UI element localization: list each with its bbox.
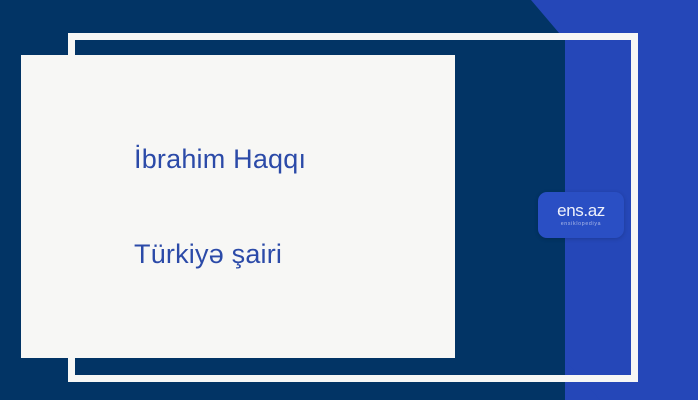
content-card-body: İbrahim Haqqı Türkiyə şairi: [21, 55, 455, 358]
slide-canvas: İbrahim Haqqı Türkiyə şairi ens.az ensik…: [0, 0, 698, 400]
logo-tagline: ensiklopediya: [561, 222, 602, 227]
content-card: İbrahim Haqqı Türkiyə şairi: [21, 55, 455, 358]
accent-diagonal-top-right: [500, 0, 590, 40]
page-title: İbrahim Haqqı: [134, 143, 306, 175]
logo-wordmark: ens.az: [557, 202, 605, 219]
page-subtitle: Türkiyə şairi: [134, 238, 282, 270]
ens-az-logo-badge[interactable]: ens.az ensiklopediya: [538, 192, 624, 238]
